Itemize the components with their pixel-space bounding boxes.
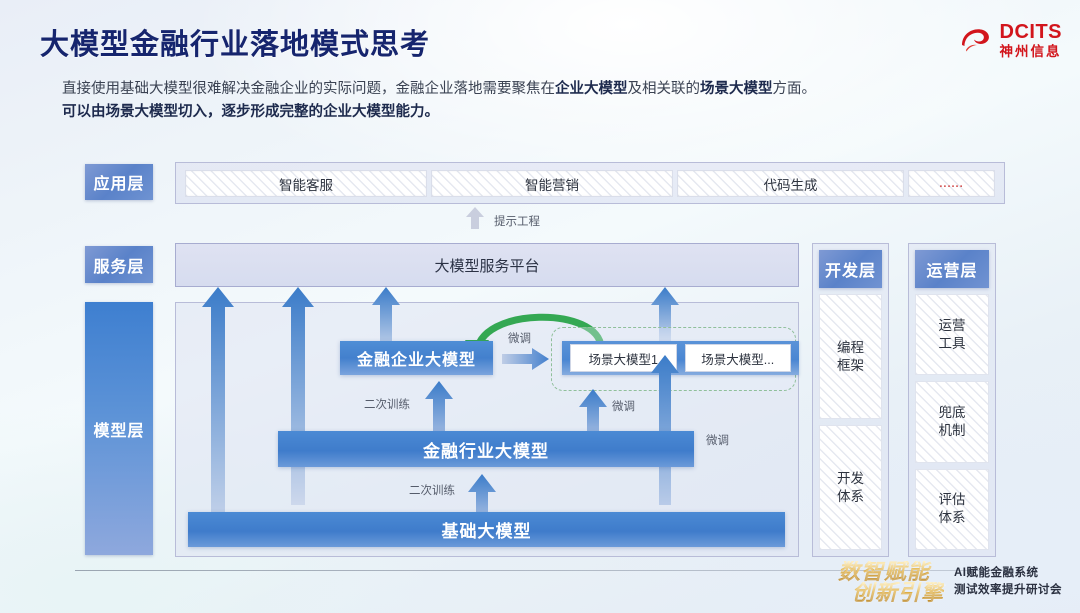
prompt-engineering-label: 提示工程	[494, 213, 540, 229]
application-item-1-label: 智能营销	[525, 174, 579, 194]
ops-layer-cell-0-label: 运营 工具	[939, 317, 966, 353]
scene-model-bar: 场景大模型1 场景大模型...	[562, 341, 799, 375]
subtitle-segment-1: 直接使用基础大模型很难解决金融企业的实际问题，金融企业落地需要聚焦在	[62, 81, 555, 97]
layer-tab-model-label: 模型层	[93, 417, 144, 441]
dev-layer-cell-0-label: 编程 框架	[837, 339, 864, 375]
retrain-label-1: 二次训练	[364, 396, 410, 412]
enterprise-to-scene-arrow-icon	[502, 348, 550, 375]
retrain-arrow-1-icon	[424, 381, 454, 438]
ops-layer-title: 运营层	[915, 250, 989, 288]
layer-tab-application-label: 应用层	[93, 170, 144, 194]
application-item-2-label: 代码生成	[764, 174, 818, 194]
ops-layer-cell-0[interactable]: 运营 工具	[915, 294, 989, 375]
brand-logo: DCITS 神州信息	[959, 22, 1063, 59]
ops-layer-cell-1[interactable]: 兜底 机制	[915, 381, 989, 462]
layer-tab-model: 模型层	[85, 302, 153, 555]
layer-tab-service-label: 服务层	[93, 253, 144, 277]
fine-tune-label-3: 微调	[706, 432, 729, 448]
dev-layer-column: 开发层 编程 框架 开发 体系	[812, 243, 889, 557]
fine-tune-label-2: 微调	[612, 398, 635, 414]
layer-tab-application: 应用层	[85, 164, 153, 200]
subtitle-highlight-scene: 场景大模型	[700, 81, 773, 97]
application-item-0-label: 智能客服	[279, 174, 333, 194]
application-item-0[interactable]: 智能客服	[185, 170, 427, 197]
service-platform-bar[interactable]: 大模型服务平台	[175, 243, 799, 287]
industry-model-label: 金融行业大模型	[423, 437, 549, 462]
page-title: 大模型金融行业落地模式思考	[40, 21, 430, 63]
enterprise-model-label: 金融企业大模型	[357, 346, 476, 370]
service-platform-label: 大模型服务平台	[434, 255, 539, 276]
base-model-label: 基础大模型	[442, 517, 532, 542]
slide-canvas: 大模型金融行业落地模式思考 直接使用基础大模型很难解决金融企业的实际问题，金融企…	[0, 0, 1080, 613]
enterprise-model-bar[interactable]: 金融企业大模型	[340, 341, 493, 375]
fine-tune-label-1: 微调	[508, 330, 531, 346]
logo-text-en: DCITS	[1000, 22, 1063, 42]
model-to-service-arrow-1-icon	[201, 287, 235, 542]
subtitle-highlight-enterprise: 企业大模型	[555, 81, 628, 97]
dcits-swirl-icon	[959, 24, 993, 56]
application-item-1[interactable]: 智能营销	[431, 170, 673, 197]
logo-text-cn: 神州信息	[1000, 45, 1063, 59]
scene-model-item-1-label: 场景大模型1	[589, 349, 658, 368]
layer-tab-service: 服务层	[85, 246, 153, 283]
ops-layer-cell-2[interactable]: 评估 体系	[915, 469, 989, 550]
event-slogan-line-1: 数智赋能	[838, 561, 944, 582]
page-subtitle: 直接使用基础大模型很难解决金融企业的实际问题，金融企业落地需要聚焦在企业大模型及…	[62, 78, 1022, 124]
event-name-line-2: 测试效率提升研讨会	[954, 582, 1062, 599]
scene-model-item-more[interactable]: 场景大模型...	[685, 344, 792, 372]
dev-layer-cell-1[interactable]: 开发 体系	[819, 425, 882, 550]
dev-layer-cell-0[interactable]: 编程 框架	[819, 294, 882, 419]
dev-layer-title: 开发层	[819, 250, 882, 288]
subtitle-segment-2: 及相关联的	[628, 81, 701, 97]
event-name-line-1: AI赋能金融系统	[954, 565, 1062, 582]
event-branding: 数智赋能 创新引擎 AI赋能金融系统 测试效率提升研讨会	[838, 561, 1062, 603]
dev-layer-title-label: 开发层	[825, 257, 876, 281]
ops-layer-title-label: 运营层	[926, 257, 977, 281]
subtitle-segment-3: 方面。	[773, 81, 817, 97]
retrain-label-2: 二次训练	[409, 482, 455, 498]
ops-layer-column: 运营层 运营 工具 兜底 机制 评估 体系	[908, 243, 996, 557]
base-model-bar[interactable]: 基础大模型	[188, 512, 785, 547]
application-item-more-label: ......	[939, 178, 963, 190]
event-slogan-line-2: 创新引擎	[852, 582, 944, 603]
subtitle-line-2: 可以由场景大模型切入，逐步形成完整的企业大模型能力。	[62, 101, 1022, 124]
application-item-2[interactable]: 代码生成	[677, 170, 904, 197]
scene-model-item-more-label: 场景大模型...	[701, 349, 774, 368]
dev-layer-cell-1-label: 开发 体系	[837, 470, 864, 506]
prompt-engineering-arrow-icon	[464, 206, 486, 235]
ops-layer-cell-1-label: 兜底 机制	[939, 404, 966, 440]
model-to-service-arrow-2-icon	[281, 287, 315, 510]
application-item-more[interactable]: ......	[908, 170, 995, 197]
ops-layer-cell-2-label: 评估 体系	[939, 491, 966, 527]
industry-model-bar[interactable]: 金融行业大模型	[278, 431, 694, 467]
